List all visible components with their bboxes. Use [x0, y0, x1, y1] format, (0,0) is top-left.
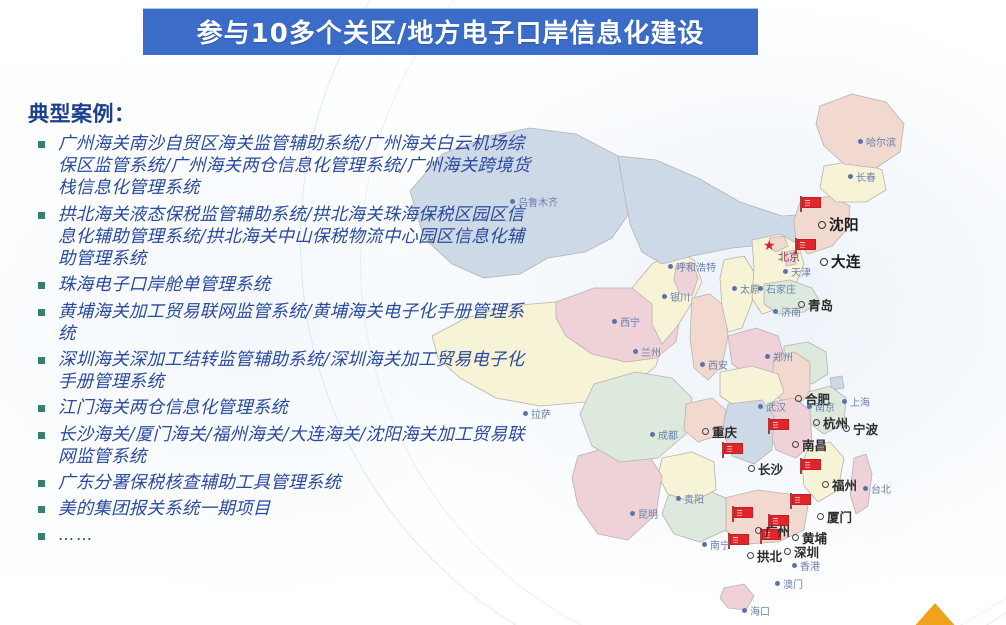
city-label: 西安 — [700, 354, 728, 373]
case-list-item: 美的集团报关系统一期项目 — [28, 498, 538, 520]
city-name: 贵阳 — [684, 495, 704, 506]
city-label: 石家庄 — [758, 278, 796, 297]
city-dot-icon — [773, 309, 778, 314]
city-name: 广州 — [765, 524, 790, 539]
city-name: 香港 — [800, 562, 820, 573]
city-name: 济南 — [781, 308, 801, 319]
case-list-item: 黄埔海关加工贸易联网监管系统/黄埔海关电子化手册管理系统 — [28, 301, 538, 345]
city-label: 长春 — [848, 166, 876, 185]
city-label: 福州 — [822, 474, 857, 494]
case-list-item-label: 美的集团报关系统一期项目 — [58, 499, 270, 519]
city-label: 澳门 — [775, 573, 803, 592]
city-name: 宁波 — [853, 422, 878, 437]
city-name: 南宁 — [710, 541, 730, 552]
section-heading: 典型案例： — [28, 98, 538, 128]
flag-marker-xiamen — [790, 493, 810, 509]
city-name: 重庆 — [712, 425, 737, 440]
city-dot-icon — [612, 319, 617, 324]
flag-marker-nanchang — [768, 418, 788, 434]
city-dot-icon — [732, 286, 737, 291]
city-label: 香港 — [792, 555, 820, 574]
city-dot-icon — [630, 511, 635, 516]
city-label: 哈尔滨 — [858, 131, 896, 150]
case-list-item-label: 珠海电子口岸舱单管理系统 — [58, 275, 270, 295]
city-dot-icon — [863, 486, 868, 491]
slide-root: ★ 哈尔滨长春沈阳大连青岛北京天津石家庄济南太原呼和浩特银川乌鲁木齐西宁兰州西安… — [0, 0, 1006, 625]
bullet-square-icon — [38, 405, 45, 412]
city-name: 南昌 — [802, 438, 827, 453]
city-label: 长沙 — [748, 458, 783, 478]
case-list-item-label: 长沙海关/厦门海关/福州海关/大连海关/沈阳海关加工贸易联网监管系统 — [58, 425, 525, 467]
case-list-item: 珠海电子口岸舱单管理系统 — [28, 274, 538, 296]
case-list-item: …… — [28, 525, 538, 545]
city-label: 沈阳 — [818, 214, 859, 235]
case-list-item: 长沙海关/厦门海关/福州海关/大连海关/沈阳海关加工贸易联网监管系统 — [28, 424, 538, 468]
city-dot-icon — [792, 563, 797, 568]
city-name: 澳门 — [783, 580, 803, 591]
flag-marker-changsha — [722, 442, 742, 458]
city-label: 上海 — [842, 391, 870, 410]
case-list-item-label: 江门海关两仓信息化管理系统 — [58, 398, 288, 418]
city-dot-icon — [650, 432, 655, 437]
city-dot-icon — [818, 221, 826, 229]
city-name: 武汉 — [766, 403, 786, 414]
city-dot-icon — [633, 349, 638, 354]
city-dot-icon — [795, 395, 802, 402]
flag-marker-guangzhou — [732, 506, 752, 522]
bullet-square-icon — [38, 141, 45, 148]
case-list-item-label: 黄埔海关加工贸易联网监管系统/黄埔海关电子化手册管理系统 — [58, 302, 524, 344]
case-list-item-label: 深圳海关深加工结转监管辅助系统/深圳海关加工贸易电子化手册管理系统 — [58, 350, 524, 392]
bullet-square-icon — [38, 282, 45, 289]
case-list-item-label: 拱北海关液态保税监管辅助系统/拱北海关珠海保税区园区信息化辅助管理系统/拱北海关… — [58, 205, 524, 269]
city-dot-icon — [765, 354, 770, 359]
city-dot-icon — [842, 399, 847, 404]
city-name: 长春 — [856, 173, 876, 184]
city-name: 海口 — [750, 607, 770, 618]
city-dot-icon — [792, 534, 799, 541]
city-dot-icon — [858, 139, 863, 144]
city-label: 济南 — [773, 301, 801, 320]
capital-star-icon: ★ — [763, 239, 776, 253]
flag-marker-shenyang — [800, 196, 820, 212]
city-dot-icon — [748, 465, 755, 472]
title-banner: 参与10多个关区/地方电子口岸信息化建设 — [143, 8, 758, 55]
city-name: 呼和浩特 — [676, 263, 716, 274]
city-label: 青岛 — [798, 294, 833, 314]
city-name: 上海 — [850, 398, 870, 409]
city-name: 太原 — [740, 285, 760, 296]
city-label: 呼和浩特 — [668, 256, 716, 275]
city-label: 武汉 — [758, 396, 786, 415]
city-dot-icon — [843, 425, 850, 432]
city-dot-icon — [758, 404, 763, 409]
city-name: 西安 — [708, 361, 728, 372]
city-dot-icon — [792, 441, 799, 448]
flag-marker-fuzhou — [800, 458, 820, 474]
orange-triangle-icon — [912, 603, 958, 625]
city-dot-icon — [775, 581, 780, 586]
case-list-item: 广州海关南沙自贸区海关监管辅助系统/广州海关白云机场综保区监管系统/广州海关两仓… — [28, 133, 538, 200]
case-bullet-list: 广州海关南沙自贸区海关监管辅助系统/广州海关白云机场综保区监管系统/广州海关两仓… — [28, 133, 538, 545]
city-dot-icon — [742, 608, 747, 613]
city-dot-icon — [700, 362, 705, 367]
city-dot-icon — [848, 174, 853, 179]
city-name: 沈阳 — [829, 218, 859, 234]
city-dot-icon — [702, 542, 707, 547]
city-label: 重庆 — [702, 421, 737, 441]
city-label: 兰州 — [633, 341, 661, 360]
city-dot-icon — [755, 527, 762, 534]
city-name: 石家庄 — [766, 285, 796, 296]
city-dot-icon — [702, 428, 709, 435]
case-list-item-label: 广东分署保税核查辅助工具管理系统 — [58, 473, 341, 493]
city-dot-icon — [668, 264, 673, 269]
city-label: 厦门 — [817, 506, 852, 526]
flag-marker-gongbei — [728, 533, 748, 549]
city-name: 哈尔滨 — [866, 138, 896, 149]
city-name: 兰州 — [641, 348, 661, 359]
bullet-square-icon — [38, 533, 45, 540]
case-list-item: 江门海关两仓信息化管理系统 — [28, 397, 538, 419]
city-label: 太原 — [732, 278, 760, 297]
city-dot-icon — [747, 552, 754, 559]
city-label: 大连 — [820, 251, 861, 272]
city-label: 郑州 — [765, 346, 793, 365]
case-list-item: 深圳海关深加工结转监管辅助系统/深圳海关加工贸易电子化手册管理系统 — [28, 349, 538, 393]
city-label: 西宁 — [612, 311, 640, 330]
case-list-panel: 典型案例： 广州海关南沙自贸区海关监管辅助系统/广州海关白云机场综保区监管系统/… — [28, 98, 538, 549]
city-dot-icon — [662, 294, 667, 299]
city-name: 银川 — [670, 293, 690, 304]
city-name: 长沙 — [758, 462, 783, 477]
case-list-item: 广东分署保税核查辅助工具管理系统 — [28, 472, 538, 494]
city-name: 拱北 — [757, 549, 782, 564]
city-name: 昆明 — [638, 510, 658, 521]
city-label: 海口 — [742, 600, 770, 619]
city-name: 大连 — [831, 255, 861, 271]
bullet-square-icon — [38, 480, 45, 487]
city-label: 南昌 — [792, 434, 827, 454]
case-list-item-label: …… — [58, 525, 94, 544]
city-label: 台北 — [863, 478, 891, 497]
city-label: 宁波 — [843, 418, 878, 438]
city-dot-icon — [822, 481, 829, 488]
city-label: 成都 — [650, 424, 678, 443]
bullet-square-icon — [38, 357, 45, 364]
case-list-item: 拱北海关液态保税监管辅助系统/拱北海关珠海保税区园区信息化辅助管理系统/拱北海关… — [28, 204, 538, 271]
city-name: 厦门 — [827, 510, 852, 525]
banner-title: 参与10多个关区/地方电子口岸信息化建设 — [197, 13, 705, 50]
city-name: 西宁 — [620, 318, 640, 329]
case-list-item-label: 广州海关南沙自贸区海关监管辅助系统/广州海关白云机场综保区监管系统/广州海关两仓… — [58, 134, 530, 198]
city-dot-icon — [784, 548, 791, 555]
city-name: 台北 — [871, 485, 891, 496]
bullet-square-icon — [38, 432, 45, 439]
city-label: 昆明 — [630, 503, 658, 522]
city-label: 拱北 — [747, 545, 782, 565]
bullet-square-icon — [38, 506, 45, 513]
bullet-square-icon — [38, 309, 45, 316]
city-name: 青岛 — [808, 298, 833, 313]
city-name: 成都 — [658, 431, 678, 442]
city-dot-icon — [813, 419, 820, 426]
city-dot-icon — [820, 258, 828, 266]
city-label: 南宁 — [702, 534, 730, 553]
city-label: 银川 — [662, 286, 690, 305]
city-name: 福州 — [832, 478, 857, 493]
city-dot-icon — [807, 404, 812, 409]
city-label: 广州 — [755, 520, 790, 540]
city-dot-icon — [783, 269, 788, 274]
city-dot-icon — [676, 496, 681, 501]
city-dot-icon — [817, 513, 824, 520]
city-label: 贵阳 — [676, 488, 704, 507]
bullet-square-icon — [38, 212, 45, 219]
city-name: 郑州 — [773, 353, 793, 364]
